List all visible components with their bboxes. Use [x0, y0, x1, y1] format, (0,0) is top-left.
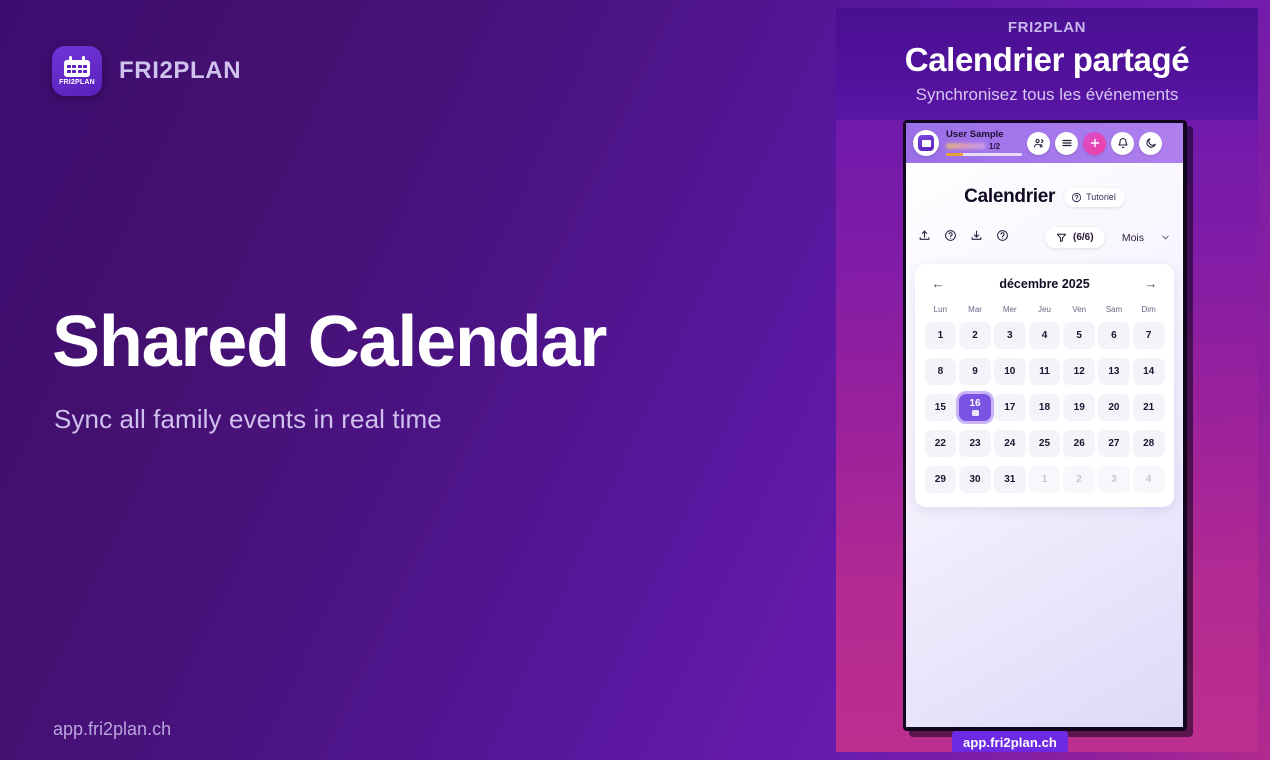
brand-name: FRI2PLAN [119, 57, 241, 85]
calendar-day-number: 17 [1004, 402, 1015, 413]
calendar-nav: ← décembre 2025 → [923, 276, 1166, 291]
calendar-day-number: 21 [1143, 402, 1154, 413]
calendar-day-number: 1 [1042, 474, 1048, 485]
calendar-day-number: 2 [972, 330, 978, 341]
moon-icon[interactable] [1139, 132, 1162, 155]
calendar-day-number: 11 [1039, 366, 1050, 377]
bell-icon[interactable] [1111, 132, 1134, 155]
calendar-day[interactable]: 2 [1063, 466, 1095, 493]
calendar-day[interactable]: 25 [1029, 430, 1061, 457]
calendar-day-number: 26 [1074, 438, 1085, 449]
calendar-day-selected[interactable]: 16 [959, 394, 991, 421]
menu-icon[interactable] [1055, 132, 1078, 155]
calendar-day-number: 3 [1111, 474, 1117, 485]
calendar-day[interactable]: 30 [959, 466, 991, 493]
calendar-day-number: 25 [1039, 438, 1050, 449]
calendar-day[interactable]: 1 [925, 322, 957, 349]
calendar-week-row: 15161718192021 [923, 392, 1166, 422]
calendar-day-number: 8 [938, 366, 944, 377]
calendar-day[interactable]: 18 [1029, 394, 1061, 421]
calendar-day[interactable]: 6 [1098, 322, 1130, 349]
users-icon[interactable] [1027, 132, 1050, 155]
calendar-week-row: 891011121314 [923, 356, 1166, 386]
calendar-day-number: 9 [972, 366, 978, 377]
calendar-icon [64, 56, 90, 77]
calendar-day-number: 4 [1042, 330, 1048, 341]
filter-icon [1056, 232, 1067, 243]
weekday-label: Jeu [1027, 305, 1062, 314]
calendar-day-number: 13 [1108, 366, 1119, 377]
prev-month-button[interactable]: ← [931, 276, 945, 291]
calendar-day-number: 28 [1143, 438, 1154, 449]
brand: FRI2PLAN FRI2PLAN [52, 46, 241, 96]
calendar-day-number: 27 [1108, 438, 1119, 449]
calendar-day[interactable]: 23 [959, 430, 991, 457]
calendar-day-number: 20 [1108, 402, 1119, 413]
topbar-actions [1027, 132, 1162, 155]
calendar-day[interactable]: 8 [925, 358, 957, 385]
calendar-day[interactable]: 19 [1063, 394, 1095, 421]
calendar-day[interactable]: 13 [1098, 358, 1130, 385]
brand-logo: FRI2PLAN [52, 46, 102, 96]
tutorial-label: Tutoriel [1086, 192, 1116, 202]
promo-slide: FRI2PLAN FRI2PLAN Shared Calendar Sync a… [0, 0, 1270, 760]
calendar-day-number: 31 [1004, 474, 1015, 485]
filter-button[interactable]: (6/6) [1045, 227, 1105, 248]
page-title: Shared Calendar [52, 306, 606, 378]
app-page-title: Calendrier [964, 186, 1055, 208]
calendar-day[interactable]: 5 [1063, 322, 1095, 349]
calendar-day-number: 23 [970, 438, 981, 449]
redacted-text [946, 143, 986, 149]
panel-subtitle: Synchronisez tous les événements [836, 85, 1258, 105]
calendar-day[interactable]: 1 [1029, 466, 1061, 493]
calendar-day-number: 4 [1146, 474, 1152, 485]
url-badge: app.fri2plan.ch [952, 731, 1068, 752]
calendar-day-number: 24 [1004, 438, 1015, 449]
calendar-day-number: 12 [1074, 366, 1085, 377]
calendar-day[interactable]: 14 [1133, 358, 1165, 385]
calendar-day-number: 30 [970, 474, 981, 485]
calendar-day[interactable]: 27 [1098, 430, 1130, 457]
view-mode-select[interactable]: Mois [1122, 232, 1171, 244]
calendar-day-number: 15 [935, 402, 946, 413]
calendar-day[interactable]: 17 [994, 394, 1026, 421]
calendar-day[interactable]: 21 [1133, 394, 1165, 421]
calendar-day-number: 16 [970, 398, 981, 409]
brand-logo-text: FRI2PLAN [59, 79, 95, 86]
calendar-week-row: 1234567 [923, 320, 1166, 350]
help-circle-icon[interactable] [944, 229, 957, 247]
calendar-day-number: 14 [1143, 366, 1154, 377]
next-month-button[interactable]: → [1144, 276, 1158, 291]
calendar-day-number: 22 [935, 438, 946, 449]
app-topbar: User Sample 1/2 [906, 123, 1183, 163]
toolbar-icons [918, 229, 1009, 247]
calendar-day[interactable]: 3 [994, 322, 1026, 349]
calendar-day[interactable]: 2 [959, 322, 991, 349]
user-meta: 1/2 [946, 142, 1018, 151]
panel-header: FRI2PLAN Calendrier partagé Synchronisez… [836, 8, 1258, 120]
progress-bar [946, 153, 1022, 156]
footer-url: app.fri2plan.ch [53, 719, 171, 740]
panel-kicker: FRI2PLAN [836, 19, 1258, 36]
event-indicator-icon [972, 410, 979, 416]
help-circle-icon [1071, 192, 1082, 203]
calendar-card: ← décembre 2025 → Lun Mar Mer Jeu Ven Sa… [915, 264, 1174, 507]
calendar-day[interactable]: 4 [1133, 466, 1165, 493]
weekday-label: Dim [1131, 305, 1166, 314]
weekday-label: Mar [958, 305, 993, 314]
download-icon[interactable] [970, 229, 983, 247]
calendar-grid: 1234567891011121314151617181920212223242… [923, 320, 1166, 494]
app-toolbar: (6/6) Mois [906, 227, 1183, 248]
calendar-day-number: 18 [1039, 402, 1050, 413]
calendar-day[interactable]: 31 [994, 466, 1026, 493]
weekday-label: Lun [923, 305, 958, 314]
calendar-day-number: 10 [1004, 366, 1015, 377]
calendar-day[interactable]: 24 [994, 430, 1026, 457]
plus-icon[interactable] [1083, 132, 1106, 155]
chevron-down-icon [1160, 232, 1171, 243]
user-fraction: 1/2 [989, 142, 1000, 151]
calendar-day[interactable]: 15 [925, 394, 957, 421]
calendar-month-label: décembre 2025 [999, 277, 1089, 291]
avatar[interactable] [913, 130, 939, 156]
view-mode-label: Mois [1122, 232, 1144, 244]
calendar-day[interactable]: 12 [1063, 358, 1095, 385]
app-page-header: Calendrier Tutoriel [906, 186, 1183, 208]
user-name: User Sample [946, 130, 1018, 140]
calendar-day[interactable]: 9 [959, 358, 991, 385]
calendar-day-number: 7 [1146, 330, 1152, 341]
weekday-label: Sam [1097, 305, 1132, 314]
calendar-day-number: 6 [1111, 330, 1117, 341]
calendar-day[interactable]: 10 [994, 358, 1026, 385]
calendar-week-row: 22232425262728 [923, 428, 1166, 458]
weekday-header: Lun Mar Mer Jeu Ven Sam Dim [923, 305, 1166, 314]
user-info: User Sample 1/2 [946, 130, 1018, 155]
calendar-day[interactable]: 22 [925, 430, 957, 457]
calendar-day-number: 2 [1076, 474, 1082, 485]
calendar-day[interactable]: 20 [1098, 394, 1130, 421]
phone-mockup: User Sample 1/2 [903, 120, 1187, 731]
hero-subtitle: Sync all family events in real time [54, 404, 442, 435]
calendar-day-number: 5 [1076, 330, 1082, 341]
calendar-day[interactable]: 28 [1133, 430, 1165, 457]
calendar-week-row: 2930311234 [923, 464, 1166, 494]
upload-icon[interactable] [918, 229, 931, 247]
calendar-day-number: 29 [935, 474, 946, 485]
calendar-day[interactable]: 4 [1029, 322, 1061, 349]
calendar-day-number: 3 [1007, 330, 1013, 341]
screenshot-pane: FRI2PLAN Calendrier partagé Synchronisez… [836, 8, 1258, 752]
panel-title: Calendrier partagé [836, 41, 1258, 79]
app-logo-icon [918, 135, 934, 151]
calendar-day[interactable]: 26 [1063, 430, 1095, 457]
calendar-day[interactable]: 7 [1133, 322, 1165, 349]
weekday-label: Ven [1062, 305, 1097, 314]
weekday-label: Mer [992, 305, 1027, 314]
calendar-day-number: 1 [938, 330, 944, 341]
hero-pane: FRI2PLAN FRI2PLAN Shared Calendar Sync a… [0, 0, 836, 760]
phone-screen: User Sample 1/2 [906, 123, 1183, 727]
filter-label: (6/6) [1073, 232, 1094, 243]
calendar-day[interactable]: 29 [925, 466, 957, 493]
calendar-day[interactable]: 3 [1098, 466, 1130, 493]
calendar-day-number: 19 [1074, 402, 1085, 413]
calendar-day[interactable]: 11 [1029, 358, 1061, 385]
tutorial-button[interactable]: Tutoriel [1064, 188, 1125, 207]
help-circle-icon[interactable] [996, 229, 1009, 247]
